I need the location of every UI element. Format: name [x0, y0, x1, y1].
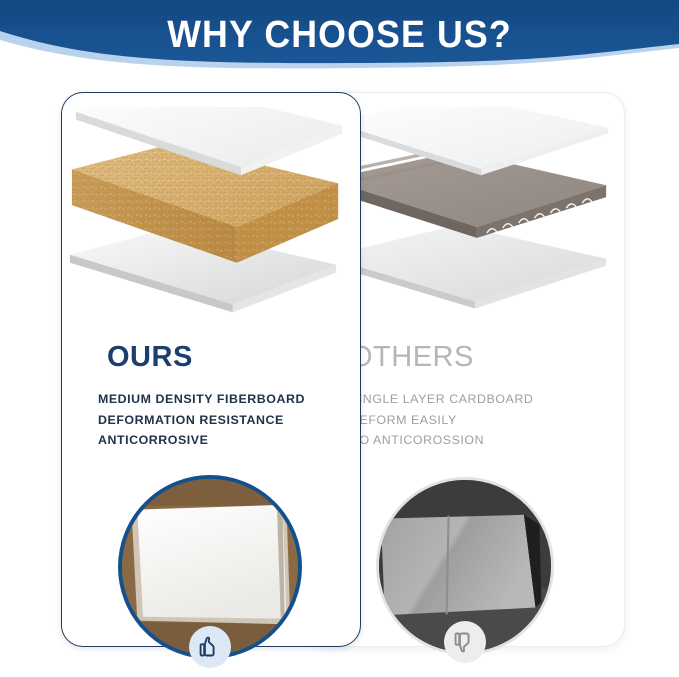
- others-layer-backing-sheet: [326, 225, 606, 308]
- others-spec-item: NO ANTICOROSSION: [350, 430, 533, 451]
- others-spec-list: SINGLE LAYER CARDBOARD DEFORM EASILY NO …: [350, 389, 533, 451]
- thumbs-up-icon: [198, 635, 222, 659]
- comparison-section: OTHERS SINGLE LAYER CARDBOARD DEFORM EAS…: [0, 72, 679, 677]
- thumbs-down-icon: [453, 630, 477, 654]
- others-spec-item: DEFORM EASILY: [350, 410, 533, 431]
- ours-board-illustration: [62, 107, 360, 335]
- ours-spec-list: MEDIUM DENSITY FIBERBOARD DEFORMATION RE…: [98, 389, 305, 451]
- thumbs-down-badge: [444, 621, 486, 663]
- others-heading: OTHERS: [350, 341, 474, 373]
- others-spec-item: SINGLE LAYER CARDBOARD: [350, 389, 533, 410]
- ours-spec-item: DEFORMATION RESISTANCE: [98, 410, 305, 431]
- ours-heading: OURS: [107, 341, 193, 373]
- header-banner: WHY CHOOSE US?: [0, 0, 679, 72]
- page-title: WHY CHOOSE US?: [20, 14, 658, 56]
- ours-card: OURS MEDIUM DENSITY FIBERBOARD DEFORMATI…: [61, 92, 361, 647]
- ours-spec-item: ANTICORROSIVE: [98, 430, 305, 451]
- thumbs-up-badge: [189, 626, 231, 668]
- ours-spec-item: MEDIUM DENSITY FIBERBOARD: [98, 389, 305, 410]
